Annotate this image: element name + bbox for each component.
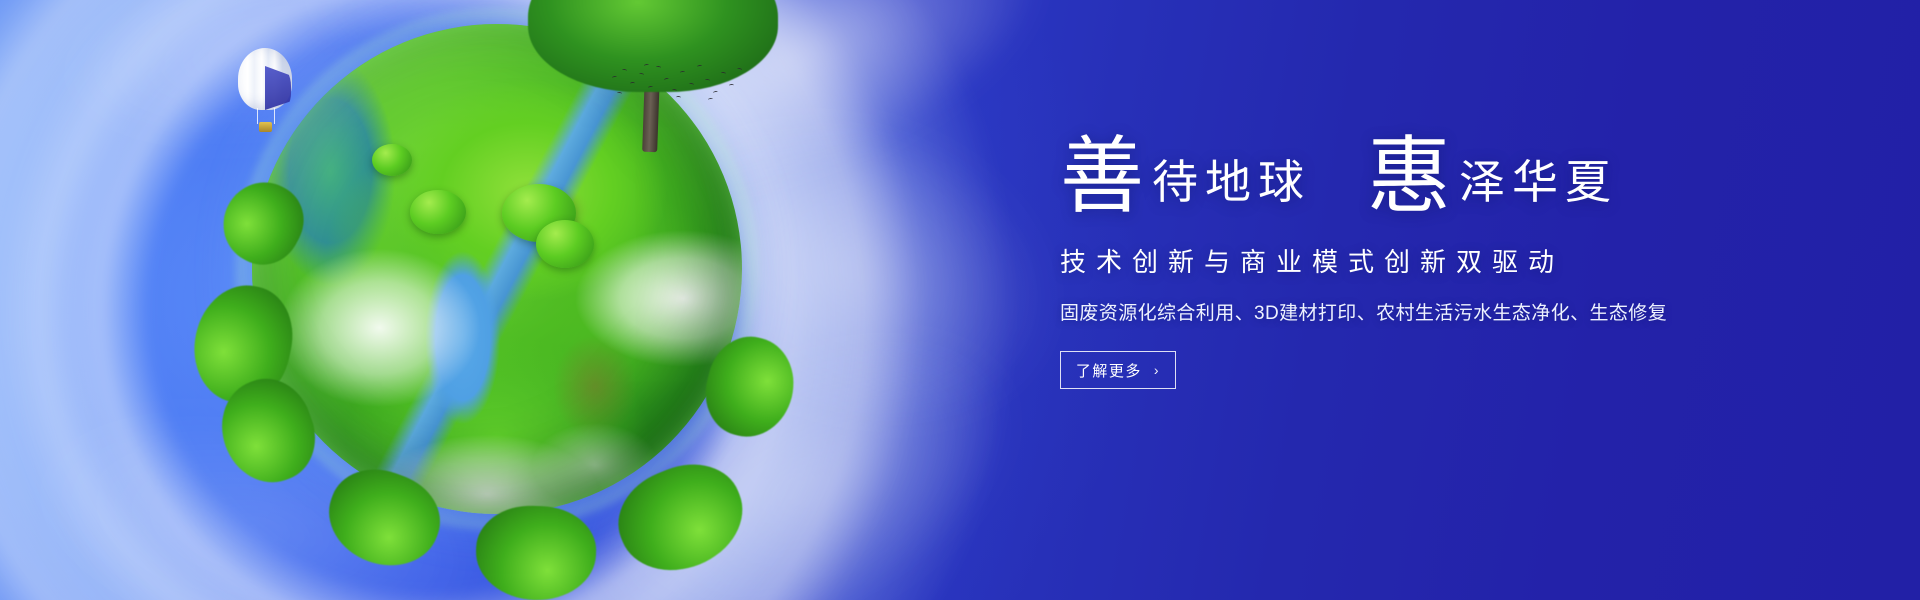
hero-copy: 善 待地球 惠 泽华夏 技术创新与商业模式创新双驱动 固废资源化综合利用、3D建…	[1060, 132, 1820, 389]
chevron-right-icon: ›	[1154, 363, 1160, 377]
headline-text-2: 泽华夏	[1459, 160, 1618, 206]
page-title: 善 待地球 惠 泽华夏	[1060, 132, 1820, 216]
rim-tree-icon	[474, 504, 597, 600]
bush-icon	[536, 220, 594, 268]
hero-banner: 善 待地球 惠 泽华夏 技术创新与商业模式创新双驱动 固废资源化综合利用、3D建…	[0, 0, 1920, 600]
learn-more-button[interactable]: 了解更多 ›	[1060, 351, 1176, 389]
balloon-basket	[259, 122, 272, 132]
bush-icon	[410, 190, 466, 234]
page-subtitle: 技术创新与商业模式创新双驱动	[1060, 242, 1820, 279]
headline-char-primary-2: 惠	[1367, 136, 1453, 220]
learn-more-label: 了解更多	[1076, 360, 1142, 381]
page-tagline: 固废资源化综合利用、3D建材打印、农村生活污水生态净化、生态修复	[1060, 298, 1820, 325]
hot-air-balloon-icon	[238, 48, 292, 134]
headline-char-primary-1: 善	[1060, 136, 1146, 220]
bush-icon	[372, 144, 412, 176]
green-planet-illustration	[176, 14, 826, 594]
headline-text-1: 待地球	[1152, 160, 1311, 206]
bird-flock-icon	[608, 62, 748, 104]
